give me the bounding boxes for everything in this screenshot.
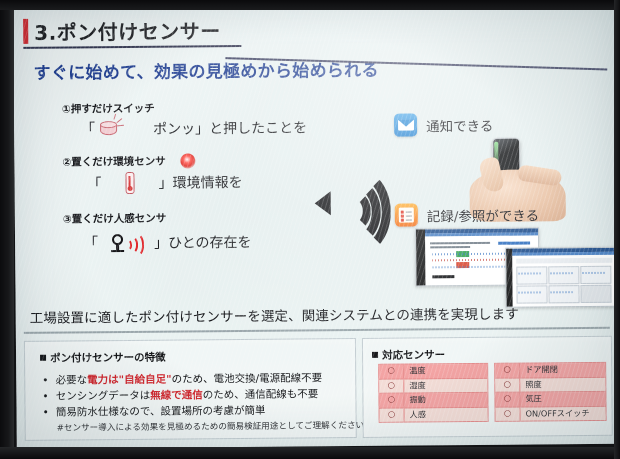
table-row[interactable]: ○照度 xyxy=(495,377,605,393)
output-record-label: 記録/参照ができる xyxy=(427,204,539,225)
photo-bezel-left xyxy=(0,0,14,459)
row-marker: ○ xyxy=(380,408,405,422)
sensor-1-line: 「 ポンッ」と押したことを xyxy=(80,116,307,139)
feature-1-post: のため、電池交換/電源配線不要 xyxy=(172,372,323,385)
bullet-marker-icon: • xyxy=(42,407,52,419)
feature-2-post: のため、通信配線も不要 xyxy=(203,388,319,401)
supported-right-table: ○ドア開閉 ○照度 ○気圧 ○ON/OFFスイッチ xyxy=(494,362,607,422)
row-label: 振動 xyxy=(404,393,487,407)
table-row[interactable]: ○ドア開閉 xyxy=(495,363,605,379)
supported-heading: 対応センサー xyxy=(372,347,445,363)
row-marker: ○ xyxy=(495,393,520,407)
feature-item-1: • 必要な電力は"自給自足"のため、電池交換/電源配線不要 xyxy=(42,370,322,387)
table-row[interactable]: ○気圧 xyxy=(495,392,605,408)
thermometer-icon xyxy=(123,172,136,194)
summary-divider xyxy=(24,327,610,334)
sensor-2-text: 」環境情報を xyxy=(158,172,242,193)
sensor-2-open-quote: 「 xyxy=(86,173,101,194)
output-notify: 通知できる xyxy=(394,113,493,137)
sensor-2-line: 「 」環境情報を xyxy=(86,171,242,194)
slide-surface: 3.ポン付けセンサー すぐに始めて、効果の見極めから始められる ①押すだけスイッ… xyxy=(13,2,618,449)
row-marker: ○ xyxy=(495,364,520,378)
row-marker: ○ xyxy=(379,379,404,393)
page-title: 3.ポン付けセンサー xyxy=(23,15,221,46)
row-label: 湿度 xyxy=(404,378,487,392)
table-row[interactable]: ○ON/OFFスイッチ xyxy=(496,407,606,422)
dashboard-screenshot-tiles xyxy=(505,247,618,308)
title-accent-bar xyxy=(23,19,28,44)
table-row[interactable]: ○湿度 xyxy=(379,378,487,394)
feature-3-pre: 簡易防水仕様なので、設置場所の考慮が簡単 xyxy=(56,405,266,419)
feature-2-highlight: 無線で通信 xyxy=(150,389,203,401)
bullet-marker-icon: • xyxy=(42,375,52,387)
bullet-marker-icon: • xyxy=(42,391,52,403)
sensor-3-open-quote: 「 xyxy=(83,232,98,253)
output-notify-label: 通知できる xyxy=(426,114,493,135)
feature-1-highlight: 電力は"自給自足" xyxy=(87,374,172,387)
row-label: ドア開閉 xyxy=(520,363,605,377)
sensor-1-text: ポンッ」と押したことを xyxy=(153,117,307,138)
title-text: 3.ポン付けセンサー xyxy=(34,15,221,46)
sensor-3-line: 「 」ひとの存在を xyxy=(83,231,252,253)
sensor-2-heading: ②置くだけ環境センサ xyxy=(62,154,166,170)
row-marker: ○ xyxy=(496,407,521,421)
table-row[interactable]: ○振動 xyxy=(379,393,487,409)
row-label: ON/OFFスイッチ xyxy=(521,407,606,421)
sensor-1-heading: ①押すだけスイッチ xyxy=(62,101,155,117)
square-marker-icon xyxy=(40,355,46,361)
feature-1-pre: 必要な xyxy=(56,374,88,386)
feature-2-pre: センシングデータは xyxy=(56,390,151,403)
row-label: 気圧 xyxy=(520,392,605,406)
row-marker: ○ xyxy=(379,394,404,408)
projected-slide-photo: 3.ポン付けセンサー すぐに始めて、効果の見極めから始められる ①押すだけスイッ… xyxy=(0,0,620,459)
row-label: 温度 xyxy=(404,364,487,378)
square-marker-icon xyxy=(372,352,378,358)
output-record: 記録/参照ができる xyxy=(395,202,539,226)
sensor-3-heading: ③置くだけ人感センサ xyxy=(63,211,167,227)
feature-item-2: • センシングデータは無線で通信のため、通信配線も不要 xyxy=(42,386,318,403)
push-button-icon xyxy=(99,120,121,137)
press-indicator-dot xyxy=(180,153,195,168)
feature-item-3: • 簡易防水仕様なので、設置場所の考慮が簡単 xyxy=(42,403,265,420)
table-row[interactable]: ○人感 xyxy=(380,408,488,423)
features-heading: ポン付けセンサーの特徴 xyxy=(40,350,166,366)
row-label: 人感 xyxy=(405,408,488,422)
table-row[interactable]: ○温度 xyxy=(379,364,487,380)
supported-left-table: ○温度 ○湿度 ○振動 ○人感 xyxy=(378,363,489,423)
motion-sensor-icon xyxy=(109,232,143,252)
row-marker: ○ xyxy=(495,378,520,392)
mail-icon xyxy=(394,113,417,136)
row-label: 照度 xyxy=(520,377,605,391)
wireless-signal-icon xyxy=(314,169,391,238)
photo-bezel-top xyxy=(0,0,620,10)
photo-bezel-right xyxy=(614,0,620,459)
notes-icon xyxy=(395,203,418,226)
photo-bezel-bottom xyxy=(0,447,620,459)
sensor-3-text: 」ひとの存在を xyxy=(154,231,252,252)
summary-text: 工場設置に適したポン付けセンサーを選定、関連システムとの連携を実現します xyxy=(30,303,519,327)
sensor-1-open-quote: 「 xyxy=(80,118,95,139)
row-marker: ○ xyxy=(379,365,404,379)
